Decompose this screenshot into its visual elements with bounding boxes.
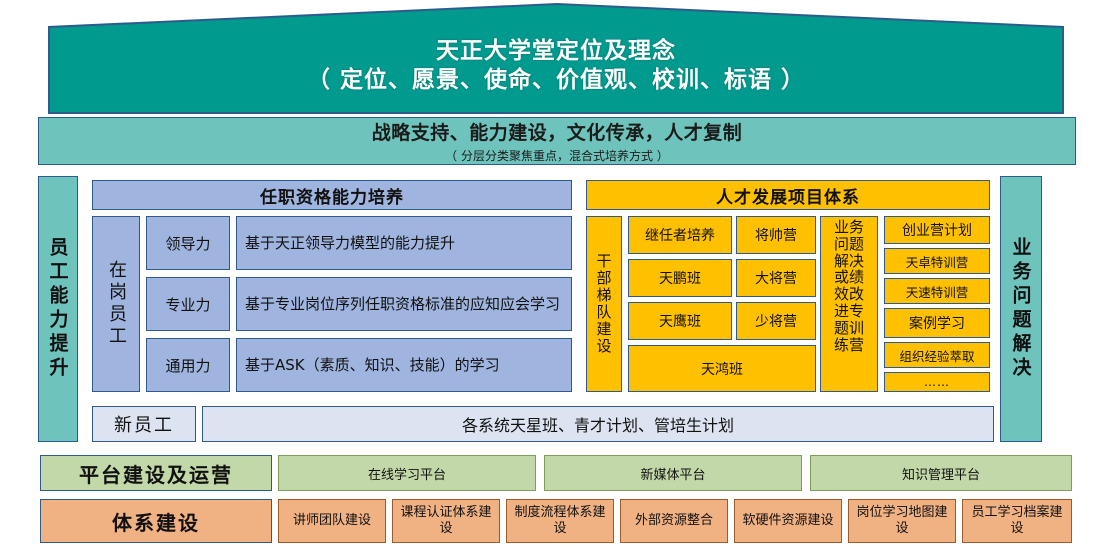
system-item-3: 外部资源整合 [620, 499, 728, 543]
talent-cadre-left-0: 继任者培养 [628, 216, 732, 254]
competency-row-0-desc: 基于天正领导力模型的能力提升 [236, 216, 572, 270]
system-item-5: 岗位学习地图建设 [848, 499, 956, 543]
competency-row-2-desc: 基于ASK（素质、知识、技能）的学习 [236, 338, 572, 392]
roof-title: 天正大学堂定位及理念 （ 定位、愿景、使命、价值观、校训、标语 ） [48, 37, 1064, 96]
talent-cadre-right-2: 少将营 [736, 302, 816, 340]
platform-item-0: 在线学习平台 [278, 455, 536, 491]
talent-program-0: 创业营计划 [884, 216, 990, 244]
roof-title-line2: （ 定位、愿景、使命、价值观、校训、标语 ） [48, 66, 1064, 95]
competency-row-2-name: 通用力 [146, 338, 230, 392]
competency-header: 任职资格能力培养 [92, 180, 572, 210]
strategy-band: 战略支持、能力建设，文化传承，人才复制 （ 分层分类聚焦重点，混合式培养方式 ） [38, 117, 1076, 165]
strategy-band-sub: （ 分层分类聚焦重点，混合式培养方式 ） [445, 147, 669, 164]
competency-row-0-name: 领导力 [146, 216, 230, 270]
platform-title: 平台建设及运营 [40, 455, 272, 491]
talent-cadre-right-1: 大将营 [736, 259, 816, 297]
system-item-2: 制度流程体系建设 [506, 499, 614, 543]
talent-header: 人才发展项目体系 [586, 180, 990, 210]
roof-shape: 天正大学堂定位及理念 （ 定位、愿景、使命、价值观、校训、标语 ） [48, 3, 1064, 114]
competency-row-1-desc: 基于专业岗位序列任职资格标准的应知应会学习 [236, 277, 572, 331]
talent-cadre-label: 干部梯队建设 [586, 216, 622, 392]
platform-item-2: 知识管理平台 [810, 455, 1072, 491]
talent-program-5: …… [884, 372, 990, 392]
talent-problem-label: 业务问题解决或绩效改进专题训练营 [820, 216, 878, 392]
talent-cadre-full: 天鸿班 [628, 345, 816, 392]
system-title: 体系建设 [40, 499, 272, 543]
system-item-1: 课程认证体系建设 [392, 499, 500, 543]
system-item-6: 员工学习档案建设 [962, 499, 1072, 543]
competency-row-1-name: 专业力 [146, 277, 230, 331]
competency-group-onjob: 在岗员工 [92, 216, 140, 392]
talent-cadre-left-2: 天鹰班 [628, 302, 732, 340]
pyramid-framework-diagram: 天正大学堂定位及理念 （ 定位、愿景、使命、价值观、校训、标语 ） 战略支持、能… [0, 0, 1114, 551]
new-employee-desc: 各系统天星班、青才计划、管培生计划 [202, 406, 994, 442]
talent-cadre-left-1: 天鹏班 [628, 259, 732, 297]
new-employee-label: 新员工 [92, 406, 196, 442]
roof-title-line1: 天正大学堂定位及理念 [48, 37, 1064, 66]
left-column-employee-capability: 员工能力提升 [38, 176, 78, 442]
platform-item-1: 新媒体平台 [544, 455, 802, 491]
talent-cadre-right-0: 将帅营 [736, 216, 816, 254]
talent-program-4: 组织经验萃取 [884, 342, 990, 368]
right-column-business-problem-solving: 业务问题解决 [1000, 176, 1042, 442]
system-item-0: 讲师团队建设 [278, 499, 386, 543]
strategy-band-main: 战略支持、能力建设，文化传承，人才复制 [372, 118, 743, 145]
talent-program-2: 天速特训营 [884, 278, 990, 304]
talent-program-1: 天卓特训营 [884, 248, 990, 274]
talent-program-3: 案例学习 [884, 308, 990, 338]
system-item-4: 软硬件资源建设 [734, 499, 842, 543]
